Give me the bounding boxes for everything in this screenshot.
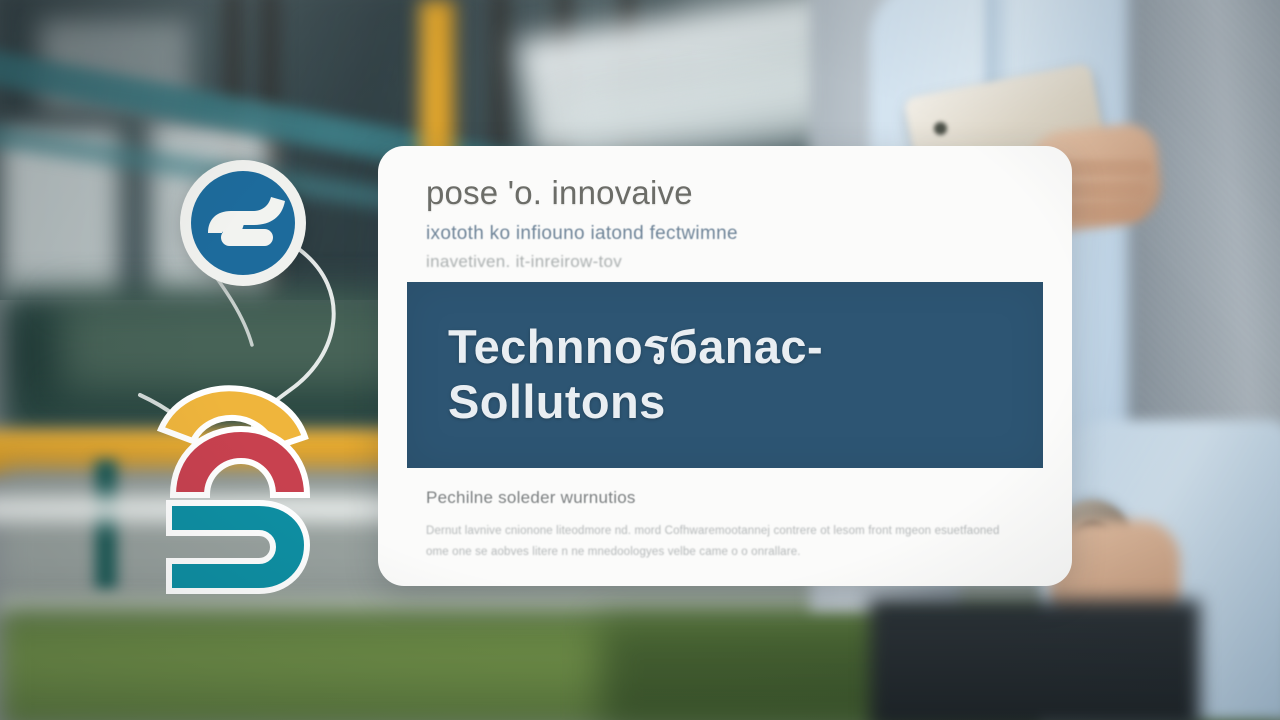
multicolor-swirl-logo	[155, 385, 320, 600]
circular-brand-badge	[180, 160, 306, 286]
trousers	[870, 600, 1200, 720]
abstract-s-monogram-icon	[191, 171, 295, 275]
card-subtitle-primary: ixototh ko infiouno iatond fectwimne	[426, 223, 1042, 245]
card-header: pose 'o. innovaive ixototh ko infiouno i…	[378, 146, 1072, 272]
footer-body-line-1: Dernut lavnive cnionone liteodmore nd. m…	[426, 521, 1032, 542]
headline-banner: Technnoรбanac- Sollutons	[407, 282, 1043, 468]
finger	[1064, 203, 1142, 219]
teal-post	[95, 460, 117, 590]
banner-headline-line-1: Technnoรбanac-	[448, 320, 1043, 375]
brand-badge-fill	[191, 171, 295, 275]
banner-headline-line-2: Sollutons	[448, 375, 1043, 430]
footer-heading: Pechilne soleder wurnutios	[426, 488, 1032, 508]
content-card: pose 'o. innovaive ixototh ko infiouno i…	[378, 146, 1072, 586]
brand-logo-group	[140, 140, 380, 620]
card-title: pose 'o. innovaive	[426, 174, 1042, 212]
swirl-bottom-curve	[169, 503, 307, 591]
footer-body-line-2: ome one se aobves litere n ne mnedoology…	[426, 542, 1032, 563]
finger	[1060, 182, 1148, 198]
card-footer: Pechilne soleder wurnutios Dernut lavniv…	[426, 488, 1032, 564]
card-subtitle-secondary: inavetiven. it-inreirow-tov	[426, 252, 1042, 272]
